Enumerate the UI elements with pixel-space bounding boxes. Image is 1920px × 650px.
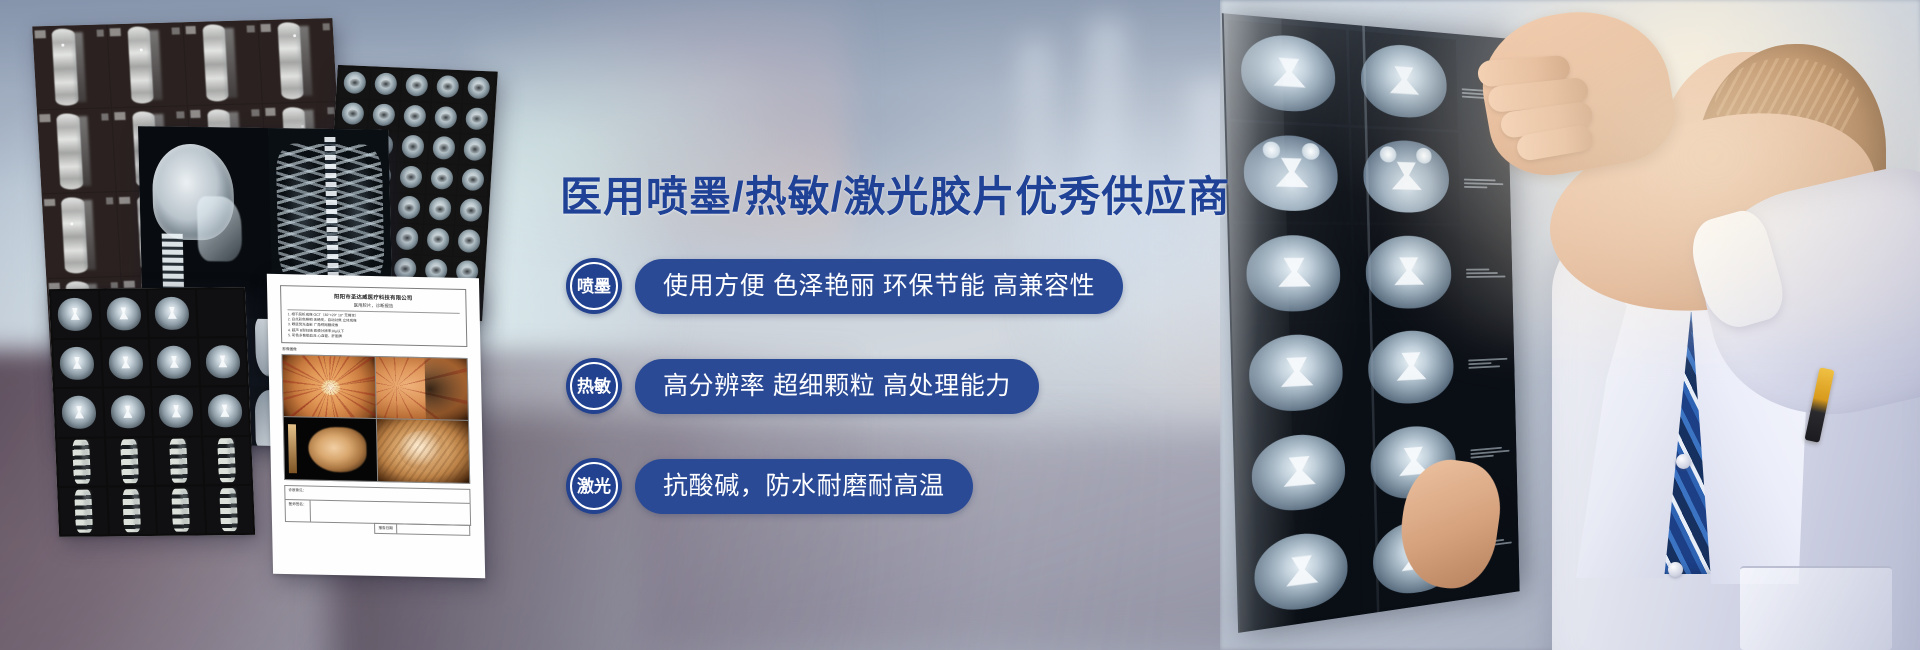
ultrasound-image-left	[284, 417, 377, 480]
report-body: 阳阳市圣达威医疗科技有限公司 医用胶片，诊断报告 1. 相干层析成像 OCT（3…	[267, 274, 485, 578]
report-header-box: 阳阳市圣达威医疗科技有限公司 医用胶片，诊断报告 1. 相干层析成像 OCT（3…	[280, 285, 467, 347]
feature-row-inkjet: 喷墨 使用方便 色泽艳丽 环保节能 高兼容性	[566, 258, 1123, 314]
brain-slice	[53, 340, 101, 388]
spine-slice	[37, 108, 116, 193]
brain-slice	[101, 339, 149, 387]
spine-sagittal-slice	[108, 487, 156, 535]
fundus-photograph-right	[375, 357, 468, 420]
report-footer-row: 医师签名： 报告日期	[285, 500, 472, 526]
badge-inkjet-label: 喷墨	[577, 278, 611, 295]
film-emulsion-area	[49, 287, 255, 537]
page-title: 医用喷墨/热敏/激光胶片优秀供应商	[560, 176, 1230, 218]
spine-sagittal-slice	[203, 437, 251, 485]
report-date-box: 报告日期	[374, 523, 470, 536]
doctor-coat-button-lower	[1668, 562, 1683, 577]
brain-slice	[198, 338, 246, 386]
spine-sagittal-slice	[205, 486, 253, 534]
doctor-coat-pocket	[1740, 566, 1892, 650]
spine-slice	[108, 22, 187, 107]
pill-laser: 抗酸碱，防水耐磨耐高温	[635, 459, 973, 514]
medical-report-printout: 阳阳市圣达威医疗科技有限公司 医用胶片，诊断报告 1. 相干层析成像 OCT（3…	[267, 274, 485, 578]
pill-thermal-text: 高分辨率 超细颗粒 高处理能力	[663, 374, 1011, 399]
brain-slice	[201, 387, 249, 435]
background-warm-glow	[1360, 0, 1920, 340]
spine-sagittal-slice	[156, 486, 204, 534]
report-item-list: 1. 相干层析成像 OCT（30°×20° 10° 无畸变） 2. 白点彩色照相…	[288, 312, 461, 341]
brain-slice	[148, 290, 196, 338]
orbit-right	[1302, 143, 1320, 160]
ultrasound-image-right	[376, 419, 469, 482]
brain-slice	[55, 389, 103, 437]
pill-inkjet-text: 使用方便 色泽艳丽 环保节能 高兼容性	[663, 274, 1095, 299]
feature-row-laser: 激光 抗酸碱，防水耐磨耐高温	[566, 458, 973, 514]
spine-sagittal-slice	[57, 438, 105, 486]
feature-row-thermal: 热敏 高分辨率 超细颗粒 高处理能力	[566, 358, 1039, 414]
fundus-photograph-left	[282, 355, 375, 418]
spine-sagittal-slice	[106, 438, 154, 486]
brain-slice	[152, 388, 200, 436]
banner-copy-block: 医用喷墨/热敏/激光胶片优秀供应商 喷墨 使用方便 色泽艳丽 环保节能 高兼容性…	[560, 0, 1240, 650]
spine-slice	[258, 18, 337, 103]
report-footer-label: 医师签名：	[286, 500, 310, 521]
spine-slice	[183, 20, 262, 105]
brain-slice-empty	[196, 289, 244, 337]
brain-slice	[99, 290, 147, 338]
badge-inkjet: 喷墨	[566, 258, 622, 314]
pill-thermal: 高分辨率 超细颗粒 高处理能力	[635, 359, 1039, 414]
brain-slice	[51, 291, 99, 339]
spine-sagittal-slice	[154, 437, 202, 485]
spine-slice	[42, 193, 121, 278]
brain-slice-grid	[51, 289, 253, 535]
pill-laser-text: 抗酸碱，防水耐磨耐高温	[663, 474, 945, 499]
badge-laser-label: 激光	[577, 478, 611, 495]
doctor-coat-button-upper	[1676, 454, 1691, 469]
brain-slice	[150, 339, 198, 387]
report-image-grid	[281, 354, 470, 484]
pill-inkjet: 使用方便 色泽艳丽 环保节能 高兼容性	[635, 259, 1123, 314]
report-footer-label: 报告日期	[375, 524, 396, 533]
spine-slice	[32, 24, 111, 109]
brain-slice	[103, 388, 151, 436]
brain-mri-spine-film	[49, 287, 255, 537]
spine-sagittal-slice	[59, 487, 107, 535]
report-footer-label: 诊断意见：	[285, 486, 309, 499]
badge-thermal: 热敏	[566, 358, 622, 414]
badge-thermal-label: 热敏	[577, 378, 611, 395]
printed-film-samples-stack: 阳阳市圣达威医疗科技有限公司 医用胶片，诊断报告 1. 相干层析成像 OCT（3…	[0, 0, 520, 650]
medical-film-supplier-banner: 阳阳市圣达威医疗科技有限公司 医用胶片，诊断报告 1. 相干层析成像 OCT（3…	[0, 0, 1920, 650]
badge-laser: 激光	[566, 458, 622, 514]
report-footer: 诊断意见： 医师签名： 报告日期	[284, 485, 471, 526]
